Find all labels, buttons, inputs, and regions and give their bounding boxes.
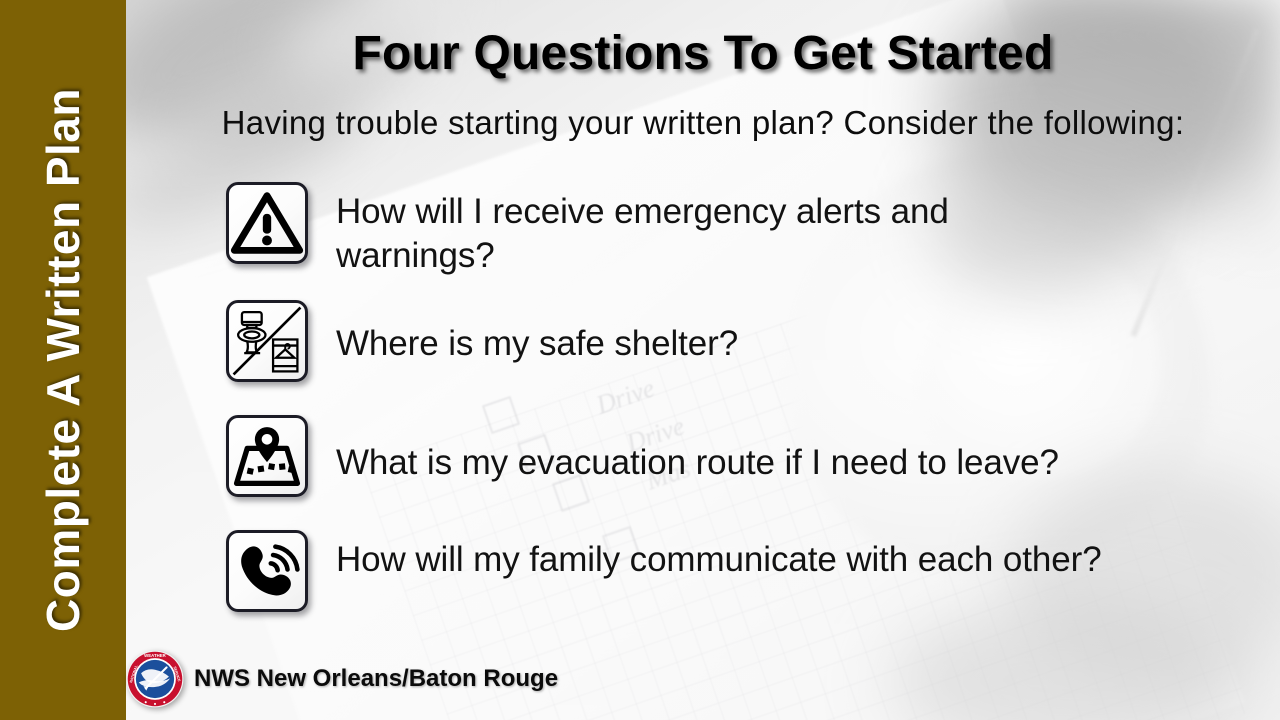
- question-text: How will I receive emergency alerts and …: [336, 190, 1056, 278]
- svg-text:WEATHER: WEATHER: [144, 653, 166, 658]
- question-text: What is my evacuation route if I need to…: [336, 441, 1059, 485]
- page-title: Four Questions To Get Started: [126, 26, 1280, 81]
- question-text: How will my family communicate with each…: [336, 538, 1102, 582]
- evacuation-map-icon: [226, 415, 308, 497]
- list-item: How will I receive emergency alerts and …: [226, 182, 1056, 278]
- sidebar-section-label: Complete A Written Plan: [36, 88, 90, 632]
- list-item: What is my evacuation route if I need to…: [226, 415, 1059, 497]
- page-subtitle: Having trouble starting your written pla…: [126, 104, 1280, 142]
- question-text: Where is my safe shelter?: [336, 322, 738, 366]
- phone-ringing-icon: [226, 530, 308, 612]
- nws-seal-logo-icon: WEATHER NATIONAL SERVICE: [126, 650, 184, 708]
- footer-office-label: NWS New Orleans/Baton Rouge: [194, 665, 558, 693]
- slide-content: Four Questions To Get Started Having tro…: [126, 0, 1280, 720]
- list-item: Where is my safe shelter?: [226, 300, 738, 382]
- footer: WEATHER NATIONAL SERVICE NWS New Orleans…: [126, 650, 558, 708]
- warning-triangle-icon: [226, 182, 308, 264]
- safe-shelter-icon: [226, 300, 308, 382]
- slide-canvas: Drive Drive Mas Complete A Written Plan …: [0, 0, 1280, 720]
- sidebar: Complete A Written Plan: [0, 0, 126, 720]
- list-item: How will my family communicate with each…: [226, 530, 1102, 612]
